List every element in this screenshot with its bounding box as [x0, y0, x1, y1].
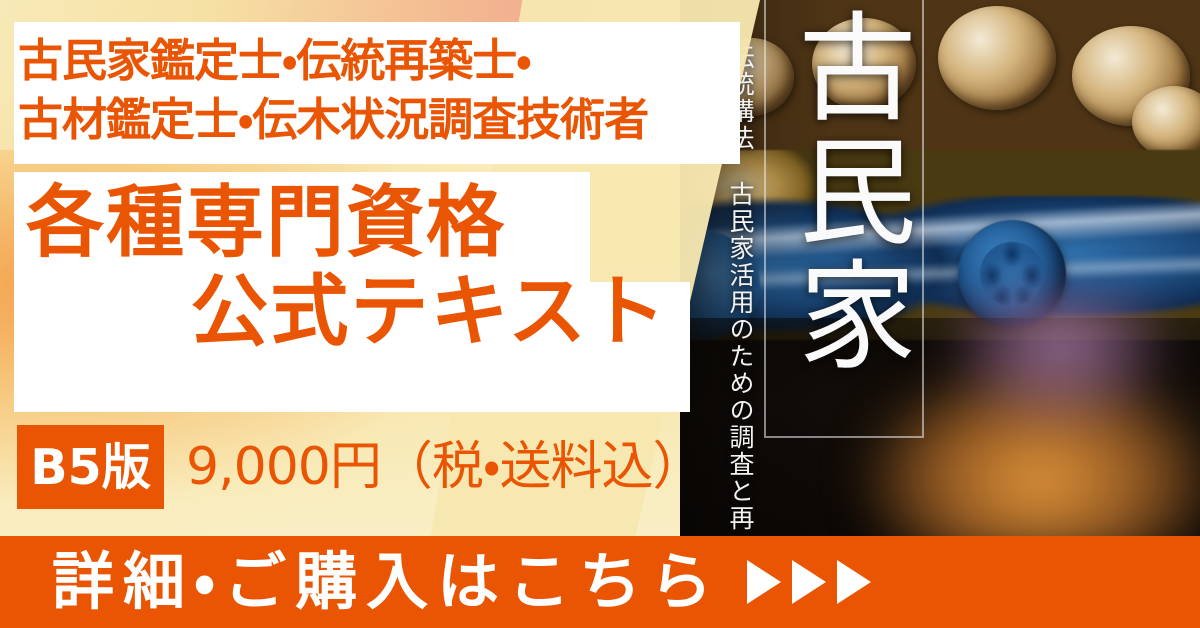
- price-row: B5版 9,000円（税・送料込）: [17, 425, 704, 509]
- triangle-right-icon: [792, 560, 826, 604]
- triangle-right-icon: [747, 560, 781, 604]
- wood-curl-decoration: [938, 6, 1056, 110]
- headline-line-2: 公式テキスト: [20, 271, 680, 354]
- subheading-line-2: 古材鑑定士・伝木状況調査技術者: [18, 91, 734, 150]
- headline-text: 各種専門資格 公式テキスト: [20, 182, 680, 353]
- headline-line-1: 各種専門資格: [20, 182, 680, 265]
- cta-bar[interactable]: 詳細・ご購入はこちら: [0, 536, 1200, 628]
- format-badge: B5版: [17, 425, 164, 509]
- cta-label: 詳細・ご購入はこちら: [52, 551, 721, 613]
- subheading-text: 古民家鑑定士・伝統再築士・ 古材鑑定士・伝木状況調査技術者: [18, 32, 734, 150]
- price-amount: 9,000円（税・送料込）: [186, 441, 704, 493]
- triangle-right-icon: [837, 560, 871, 604]
- book-cover-photo: 古民家 伝統構法 古民家活用のための調査と再生の…: [680, 0, 1200, 540]
- subheading-line-1: 古民家鑑定士・伝統再築士・: [18, 32, 734, 91]
- cta-arrow-group: [747, 560, 871, 604]
- cover-title: 古民家: [772, 6, 912, 436]
- promo-banner: 古民家 伝統構法 古民家活用のための調査と再生の… 古民家鑑定士・伝統再築士・ …: [0, 0, 1200, 628]
